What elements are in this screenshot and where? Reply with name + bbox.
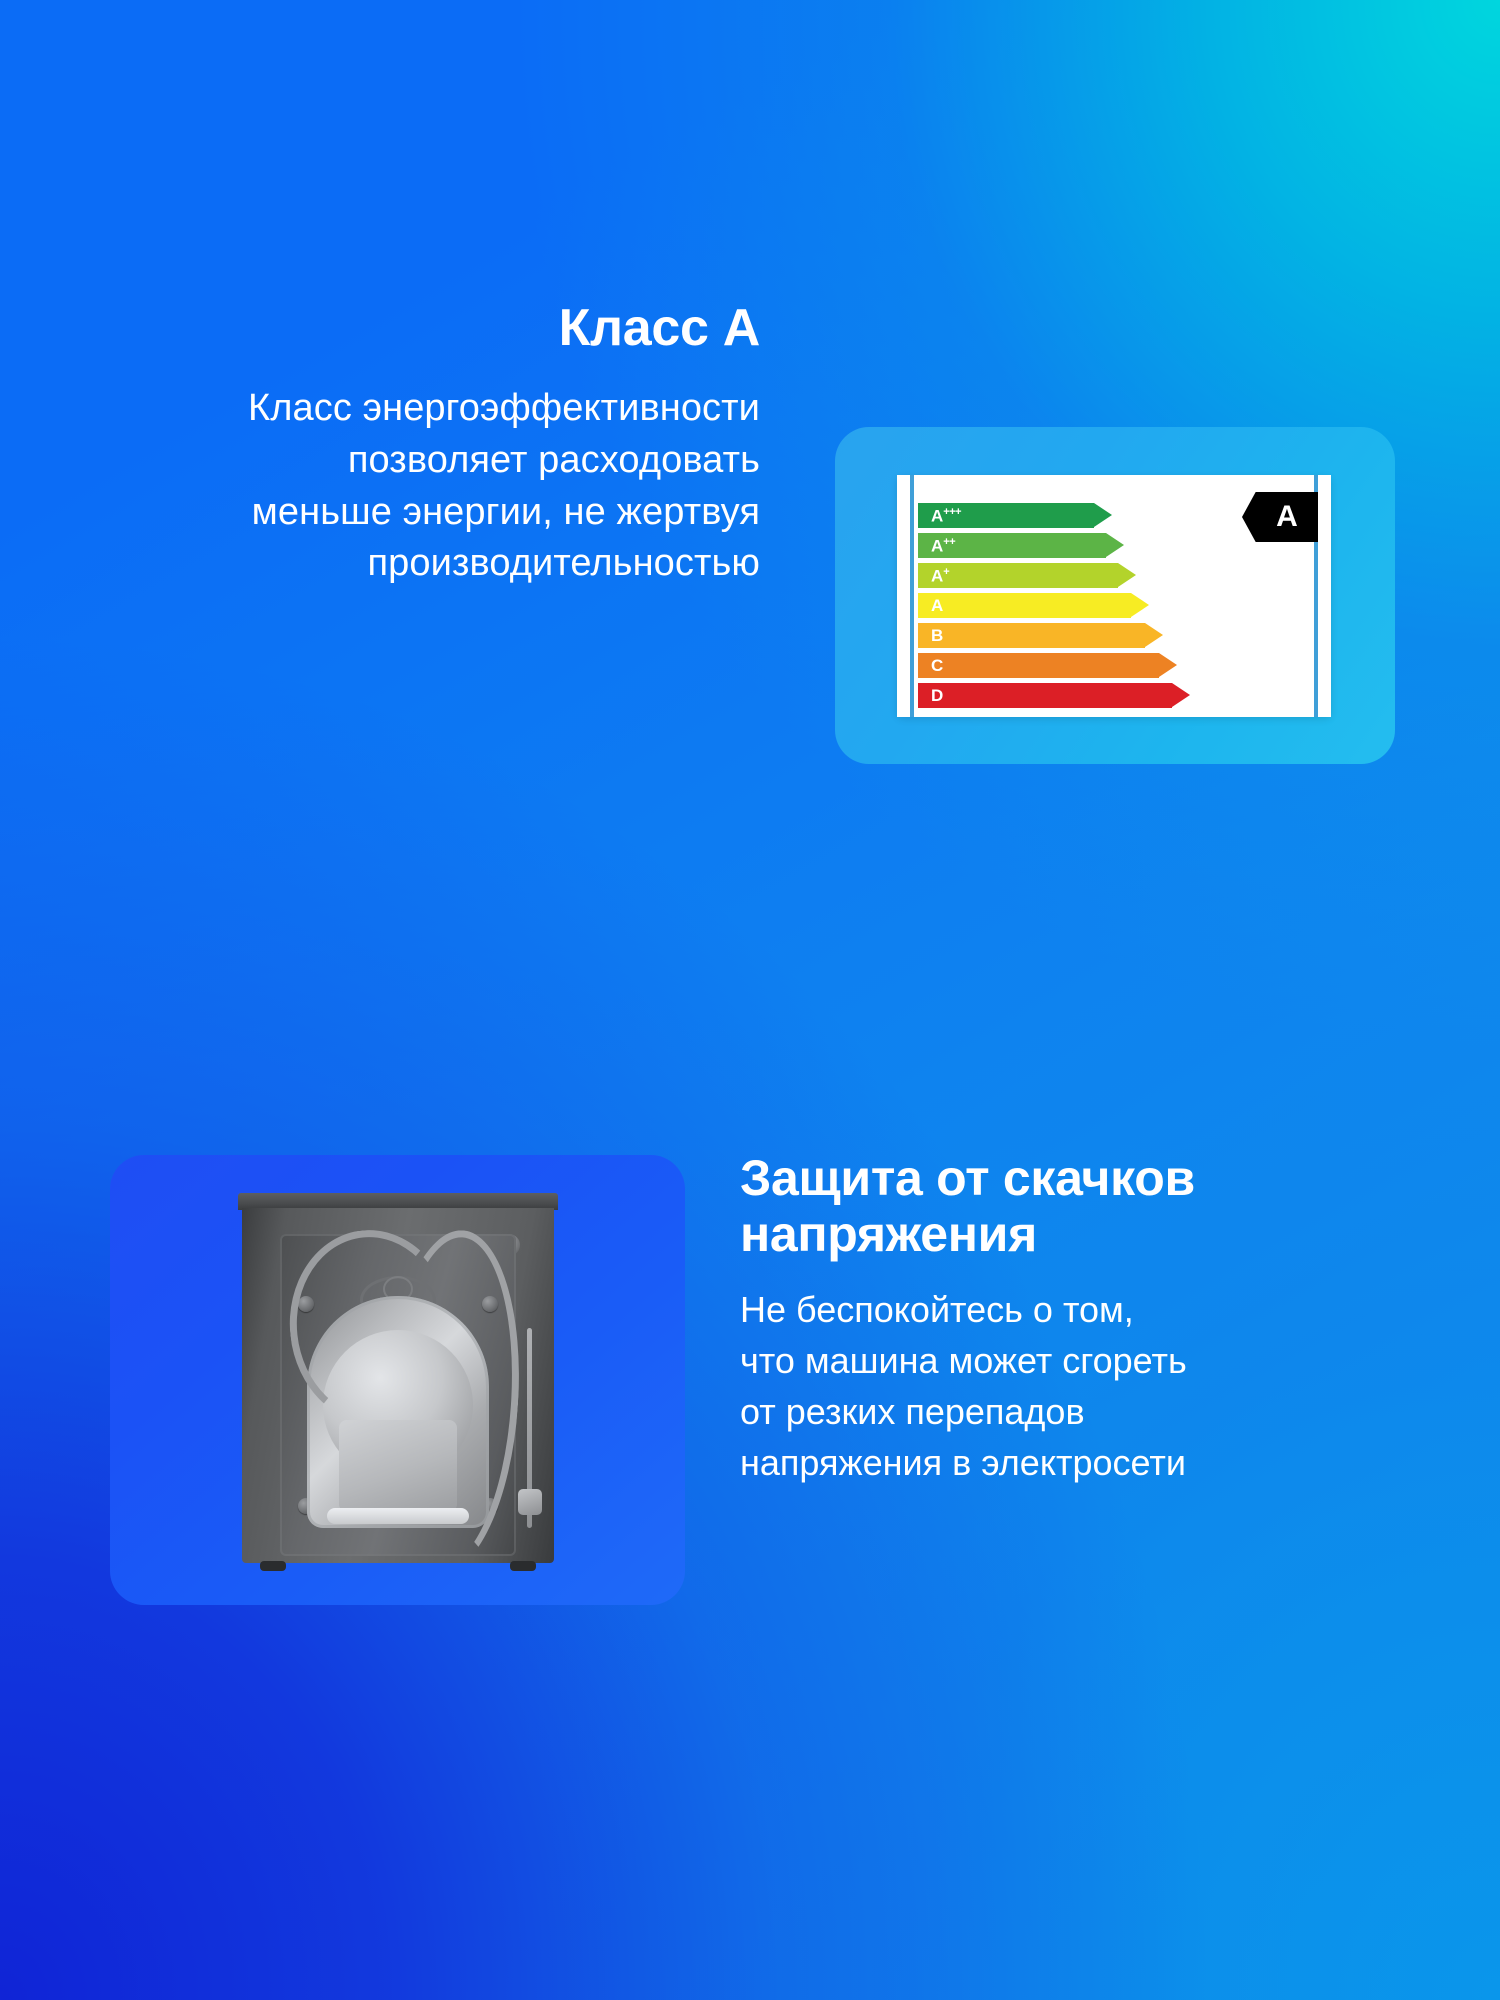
energy-rating-label: A+++ A++ A+ A [897, 475, 1331, 717]
energy-body-line-1: Класс энергоэффективности [248, 387, 760, 429]
energy-class-bars: A+++ A++ A+ A [918, 503, 1218, 713]
surge-protection-body: Не беспокойтесь о том, что машина может … [740, 1284, 1300, 1488]
washing-machine-rear-image [238, 1193, 558, 1578]
surge-body-line-4: напряжения в электросети [740, 1442, 1186, 1483]
surge-title-line-1: Защита от скачков [740, 1150, 1195, 1206]
energy-bar-label: B [918, 627, 943, 644]
energy-body-line-3: меньше энергии, не жертвуя [252, 491, 760, 533]
surge-protection-section: Защита от скачков напряжения Не беспокой… [0, 1150, 1500, 1670]
energy-bar-a-plus-plus-plus: A+++ [918, 503, 1218, 528]
machine-power-plug [518, 1489, 542, 1515]
energy-label-card: A+++ A++ A+ A [835, 427, 1395, 764]
energy-body-line-4: производительностью [368, 542, 761, 584]
machine-back-panel [242, 1208, 554, 1563]
energy-body-line-2: позволяет расходовать [348, 439, 760, 481]
label-edge-left [897, 475, 906, 717]
energy-class-section: Класс А Класс энергоэффективности позвол… [0, 300, 1500, 920]
energy-bar-label: A+++ [918, 507, 961, 525]
energy-bar-d: D [918, 683, 1218, 708]
energy-bar-b: B [918, 623, 1218, 648]
label-edge-right [1322, 475, 1331, 717]
surge-title-line-2: напряжения [740, 1206, 1037, 1262]
energy-bar-a-plus: A+ [918, 563, 1218, 588]
energy-class-body: Класс энергоэффективности позволяет расх… [60, 383, 760, 590]
machine-foot [260, 1561, 286, 1571]
washing-machine-card [110, 1155, 685, 1605]
energy-bar-a-plus-plus: A++ [918, 533, 1218, 558]
surge-protection-title: Защита от скачков напряжения [740, 1150, 1300, 1262]
energy-class-title: Класс А [60, 300, 760, 357]
energy-class-text-block: Класс А Класс энергоэффективности позвол… [60, 300, 760, 590]
energy-bar-label: A [918, 597, 943, 614]
selected-class-badge: A [1242, 492, 1318, 542]
surge-body-line-3: от резких перепадов [740, 1391, 1085, 1432]
selected-class-letter: A [1262, 502, 1298, 532]
surge-body-line-2: что машина может сгореть [740, 1340, 1187, 1381]
energy-bar-c: C [918, 653, 1218, 678]
machine-foot [510, 1561, 536, 1571]
energy-bar-label: C [918, 657, 943, 674]
energy-bar-label: A++ [918, 537, 955, 555]
label-rail-left [910, 475, 914, 717]
energy-bar-label: D [918, 687, 943, 704]
energy-bar-a: A [918, 593, 1218, 618]
energy-bar-label: A+ [918, 567, 949, 585]
surge-body-line-1: Не беспокойтесь о том, [740, 1289, 1134, 1330]
surge-protection-text-block: Защита от скачков напряжения Не беспокой… [740, 1150, 1300, 1488]
